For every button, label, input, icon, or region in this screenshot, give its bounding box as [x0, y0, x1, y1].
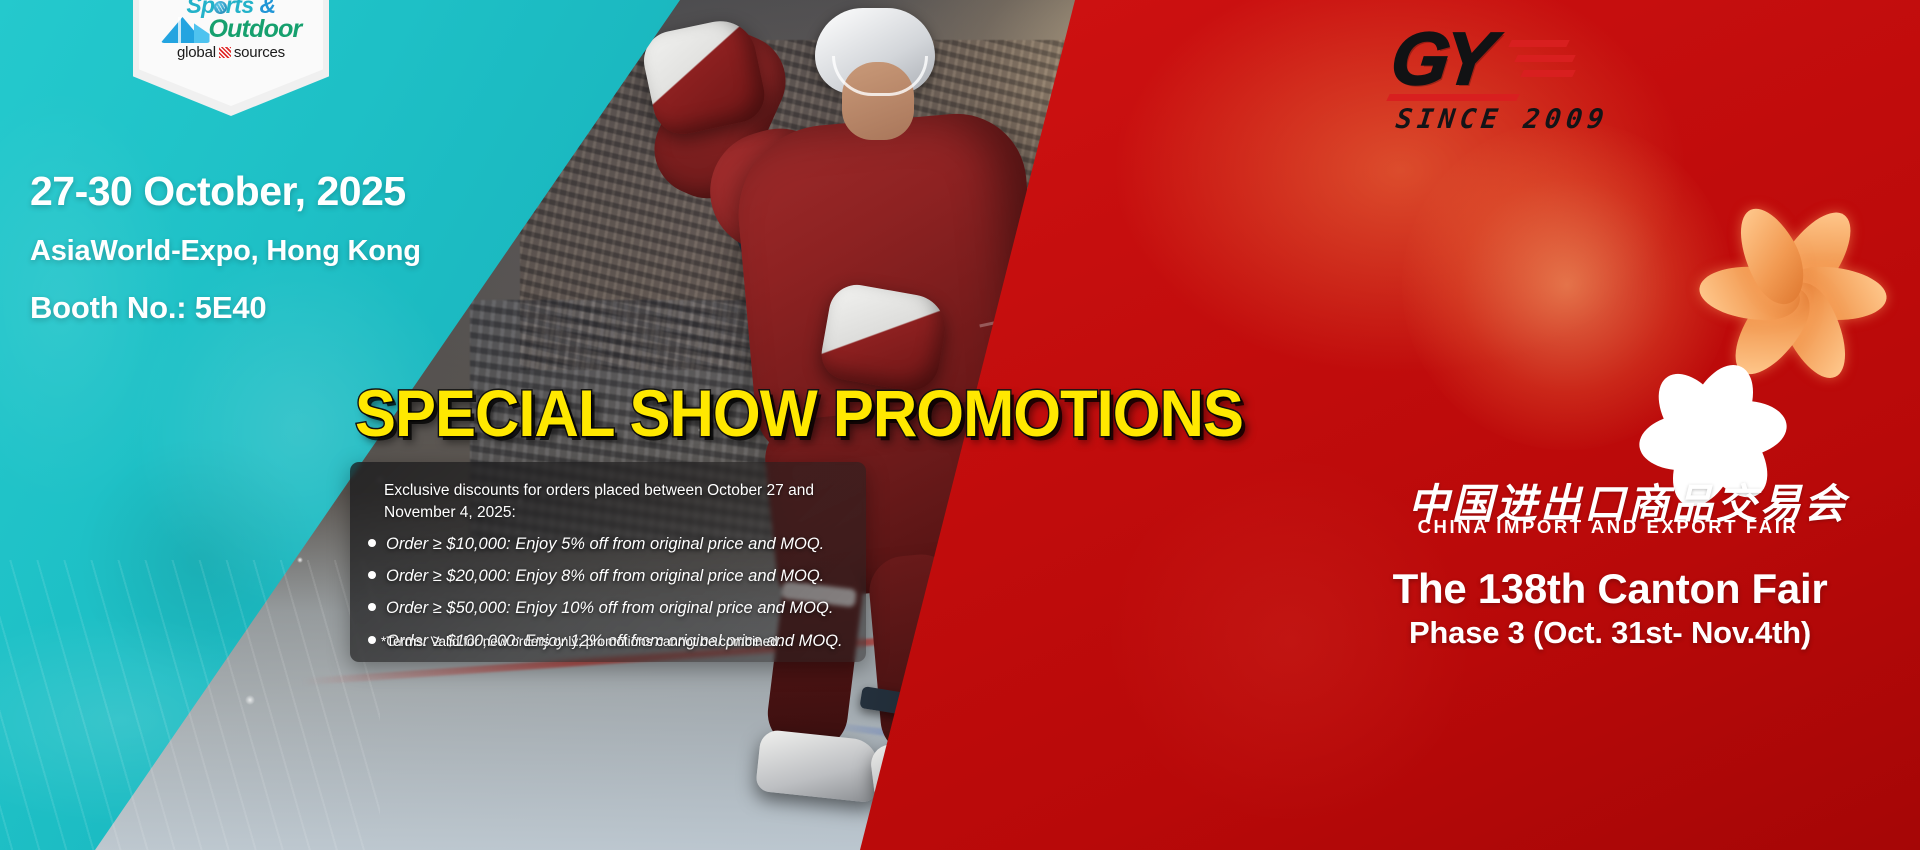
left-panel-wave-lines	[0, 560, 380, 850]
bullet-icon	[368, 636, 376, 644]
event-date: 27-30 October, 2025	[30, 168, 406, 215]
booth-number: Booth No.: 5E40	[30, 290, 266, 326]
promotions-tier-item: Order ≥ $20,000: Enjoy 8% off from origi…	[368, 560, 888, 592]
gy-since-text: SINCE 2009	[1394, 104, 1610, 135]
promotions-tier-item: Order ≥ $50,000: Enjoy 10% off from orig…	[368, 592, 888, 624]
promotions-intro-text: Exclusive discounts for orders placed be…	[384, 480, 854, 525]
gy-accent-bar-2	[1508, 40, 1569, 47]
canton-fair-name-english: CHINA IMPORT AND EXPORT FAIR	[1408, 516, 1808, 538]
logo-global-sources-row: globalsources	[177, 44, 285, 61]
canton-fair-title: The 138th Canton Fair	[1330, 565, 1890, 613]
event-venue: AsiaWorld-Expo, Hong Kong	[30, 235, 421, 268]
bullet-icon	[368, 603, 376, 611]
promotions-tier-text: Order ≥ $20,000: Enjoy 8% off from origi…	[386, 567, 824, 585]
promotions-tier-text: Order ≥ $50,000: Enjoy 10% off from orig…	[386, 599, 833, 617]
canton-fair-phase: Phase 3 (Oct. 31st- Nov.4th)	[1330, 615, 1890, 651]
logo-sources-text: sources	[234, 44, 285, 61]
promotions-tier-text: Order ≥ $10,000: Enjoy 5% off from origi…	[386, 535, 824, 553]
promotions-headline: SPECIAL SHOW PROMOTIONS	[355, 375, 1243, 451]
promotional-banner: Sprts & Outdoor globalsources 27-30 Octo…	[0, 0, 1920, 850]
bullet-icon	[368, 571, 376, 579]
promotions-tier-item: Order ≥ $10,000: Enjoy 5% off from origi…	[368, 528, 888, 560]
tent-flap-icon	[194, 23, 210, 43]
globe-ball-icon	[214, 1, 227, 14]
gy-accent-bar-1	[1386, 94, 1519, 101]
gy-brand-name: GY	[1387, 22, 1493, 96]
bullet-icon	[368, 539, 376, 547]
global-sources-mark-icon	[219, 47, 231, 58]
gy-brand-logo: GY SINCE 2009	[1392, 22, 1652, 132]
logo-outdoor-row: Outdoor	[161, 15, 302, 43]
promotions-terms-text: *Terms: Valid for new orders only; promo…	[381, 634, 851, 649]
tent-icon	[161, 15, 205, 43]
gy-accent-bar-3	[1514, 55, 1575, 62]
logo-global-text: global	[177, 44, 216, 61]
gy-accent-bar-4	[1520, 70, 1575, 77]
logo-outdoor-text: Outdoor	[209, 17, 302, 42]
